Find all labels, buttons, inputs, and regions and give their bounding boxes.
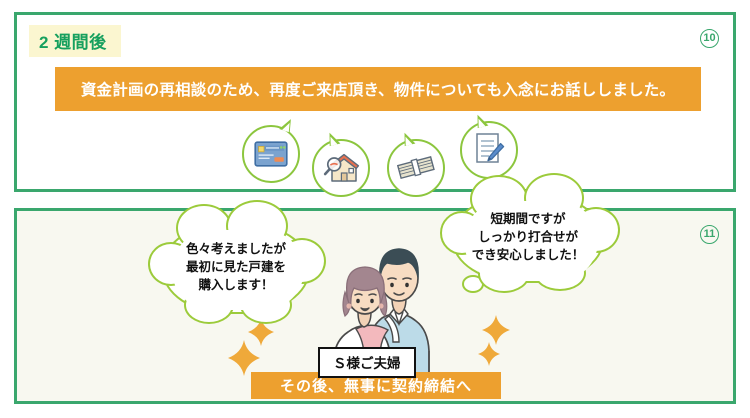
panel-step-10: 2 週間後 10 資金計画の再相談のため、再度ご来店頂き、物件についても入念にお… <box>14 12 736 192</box>
speech-bubble-left-text: 色々考えましたが 最初に見た戸建を 購入します！ <box>180 241 292 294</box>
icon-bubble-house <box>312 139 370 197</box>
step-number-badge: 10 <box>700 29 719 48</box>
speech-bubble-left: 色々考えましたが 最初に見た戸建を 購入します！ <box>162 222 310 314</box>
icon-bubble-contract <box>460 121 518 179</box>
bubble-tail <box>327 131 341 146</box>
step-number-badge: 11 <box>700 225 719 244</box>
contract-pen-icon <box>473 132 505 168</box>
name-plate: Ｓ様ご夫婦 <box>318 347 416 378</box>
icon-bubble-cash <box>387 139 445 197</box>
speech-bubble-right-text: 短期間ですが しっかり打合せが でき安心しました！ <box>466 211 591 264</box>
sparkle-icon <box>478 342 500 366</box>
phase-tag: 2 週間後 <box>29 25 121 57</box>
bubble-tail <box>279 117 293 133</box>
bubble-tail <box>402 131 416 146</box>
sparkle-icon <box>482 315 510 345</box>
house-search-icon <box>322 151 360 185</box>
icon-bubble-card <box>242 125 300 183</box>
sparkle-icon <box>228 340 260 376</box>
card-form-icon <box>254 141 288 167</box>
bubble-tail <box>475 113 489 128</box>
headline-banner: 資金計画の再相談のため、再度ご来店頂き、物件についても入念にお話ししました。 <box>55 67 701 111</box>
speech-bubble-right: 短期間ですが しっかり打合せが でき安心しました！ <box>452 193 604 283</box>
cash-bundle-icon <box>397 154 435 182</box>
slide-canvas: 2 週間後 10 資金計画の再相談のため、再度ご来店頂き、物件についても入念にお… <box>0 0 750 418</box>
